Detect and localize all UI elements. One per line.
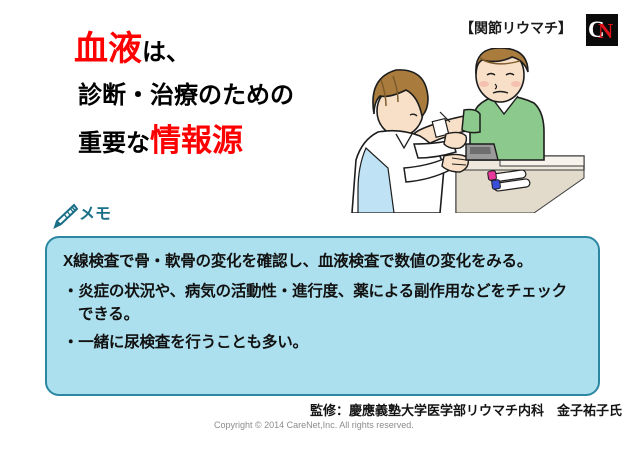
pencil-icon [52,203,78,229]
title-highlight-source: 情報源 [150,123,243,158]
memo-bullet-1: ・炎症の状況や、病気の活動性・進行度、薬による副作用などをチェックできる。 [63,280,582,327]
memo-label-text: メモ [79,207,111,225]
copyright-notice: Copyright © 2014 CareNet,Inc. All rights… [214,420,414,430]
memo-box: X線検査で骨・軟骨の変化を確認し、血液検査で数値の変化をみる。 ・炎症の状況や、… [45,236,600,396]
page-title: 血液は、 診断・治療のための 重要な情報源 [74,32,374,156]
carenet-logo: C N [586,14,618,46]
topic-label: 【関節リウマチ】 [460,18,572,38]
title-highlight-blood: 血液 [74,30,142,68]
memo-bullet-2: ・一緒に尿検査を行うことも多い。 [63,331,582,355]
memo-label: メモ [52,203,111,229]
slide-canvas: 【関節リウマチ】 C N 血液は、 診断・治療のための 重要な情報源 [0,0,640,452]
title-line-1: 血液は、 [74,32,374,66]
title-line-2: 診断・治療のための [78,84,374,108]
memo-paragraph: X線検査で骨・軟骨の変化を確認し、血液検査で数値の変化をみる。 [63,250,582,274]
supervisor-credit: 監修：慶應義塾大学医学部リウマチ内科 金子祐子氏 [310,400,622,419]
blood-draw-illustration [348,48,610,213]
title-line-3-plain: 重要な [78,130,150,157]
logo-letter-n: N [598,21,613,42]
title-line-3: 重要な情報源 [78,125,374,156]
title-line-1-rest: は、 [142,39,190,66]
